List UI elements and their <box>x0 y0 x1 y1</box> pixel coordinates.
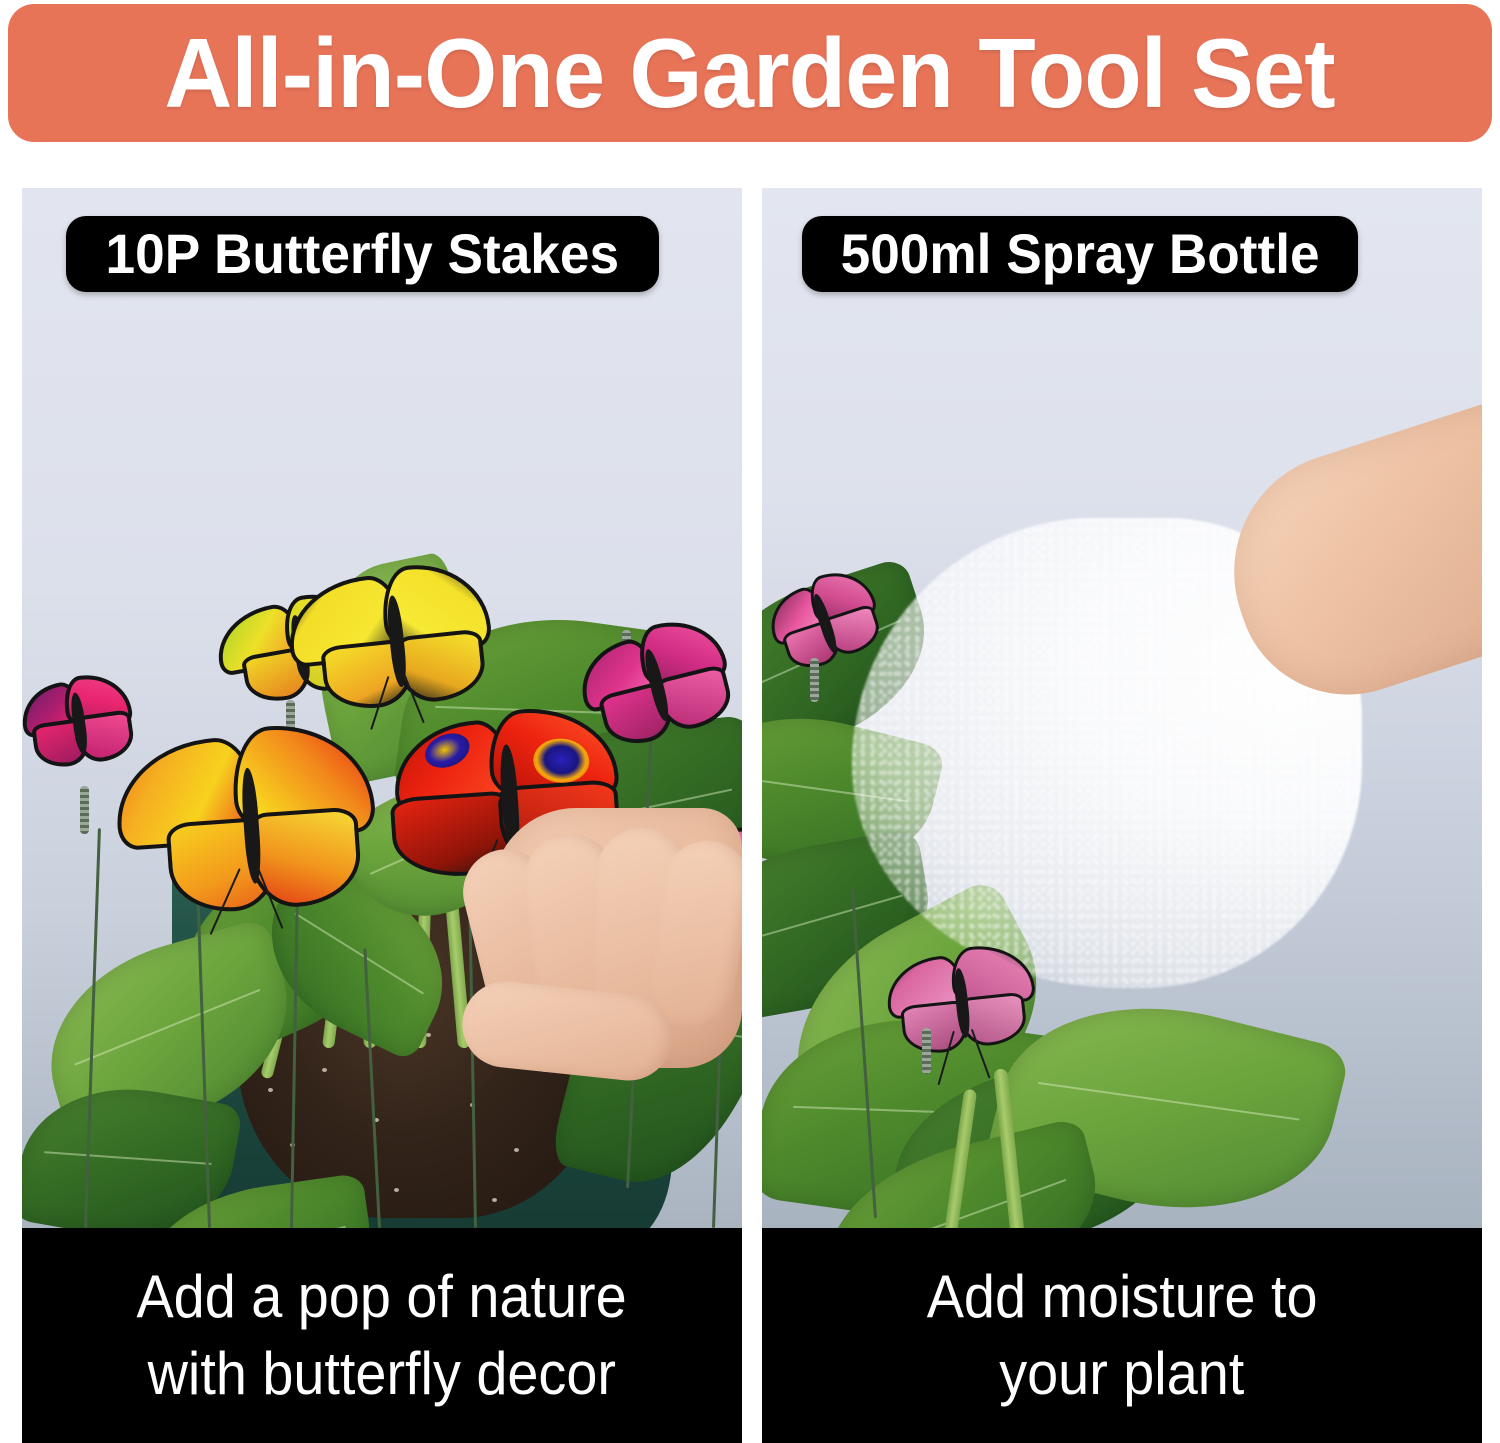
caption-line-1: Add a pop of nature <box>137 1259 627 1336</box>
stake-coil <box>922 1028 931 1074</box>
badge-butterfly-stakes: 10P Butterfly Stakes <box>66 216 659 292</box>
caption-line-2: your plant <box>999 1336 1244 1413</box>
caption-spray-bottle: Add moisture to your plant <box>762 1228 1482 1443</box>
page-title: All-in-One Garden Tool Set <box>165 24 1335 122</box>
badge-label: 10P Butterfly Stakes <box>106 226 620 282</box>
badge-spray-bottle: 500ml Spray Bottle <box>802 216 1358 292</box>
yellow-black-butterfly <box>283 558 498 728</box>
product-infographic: All-in-One Garden Tool Set <box>0 0 1500 1443</box>
badge-label: 500ml Spray Bottle <box>841 226 1320 282</box>
orange-yellow-butterfly <box>111 719 384 937</box>
stake-coil <box>80 786 89 834</box>
photo-spray-bottle: 500ml Spray Bottle <box>762 188 1482 1228</box>
photo-butterfly-stakes: 10P Butterfly Stakes <box>22 188 742 1228</box>
scene-butterfly-stakes <box>22 188 742 1228</box>
header-banner: All-in-One Garden Tool Set <box>8 4 1492 142</box>
stake-coil <box>810 658 819 702</box>
caption-line-2: with butterfly decor <box>148 1336 616 1413</box>
scene-spray-bottle <box>762 188 1482 1228</box>
caption-line-1: Add moisture to <box>927 1259 1318 1336</box>
panel-butterfly-stakes: 10P Butterfly Stakes Add a pop of nature… <box>22 188 742 1443</box>
pink-monarch-butterfly-lower <box>883 940 1044 1065</box>
panel-spray-bottle: 500ml Spray Bottle Add moisture to your … <box>762 188 1482 1443</box>
caption-butterfly-stakes: Add a pop of nature with butterfly decor <box>22 1228 742 1443</box>
